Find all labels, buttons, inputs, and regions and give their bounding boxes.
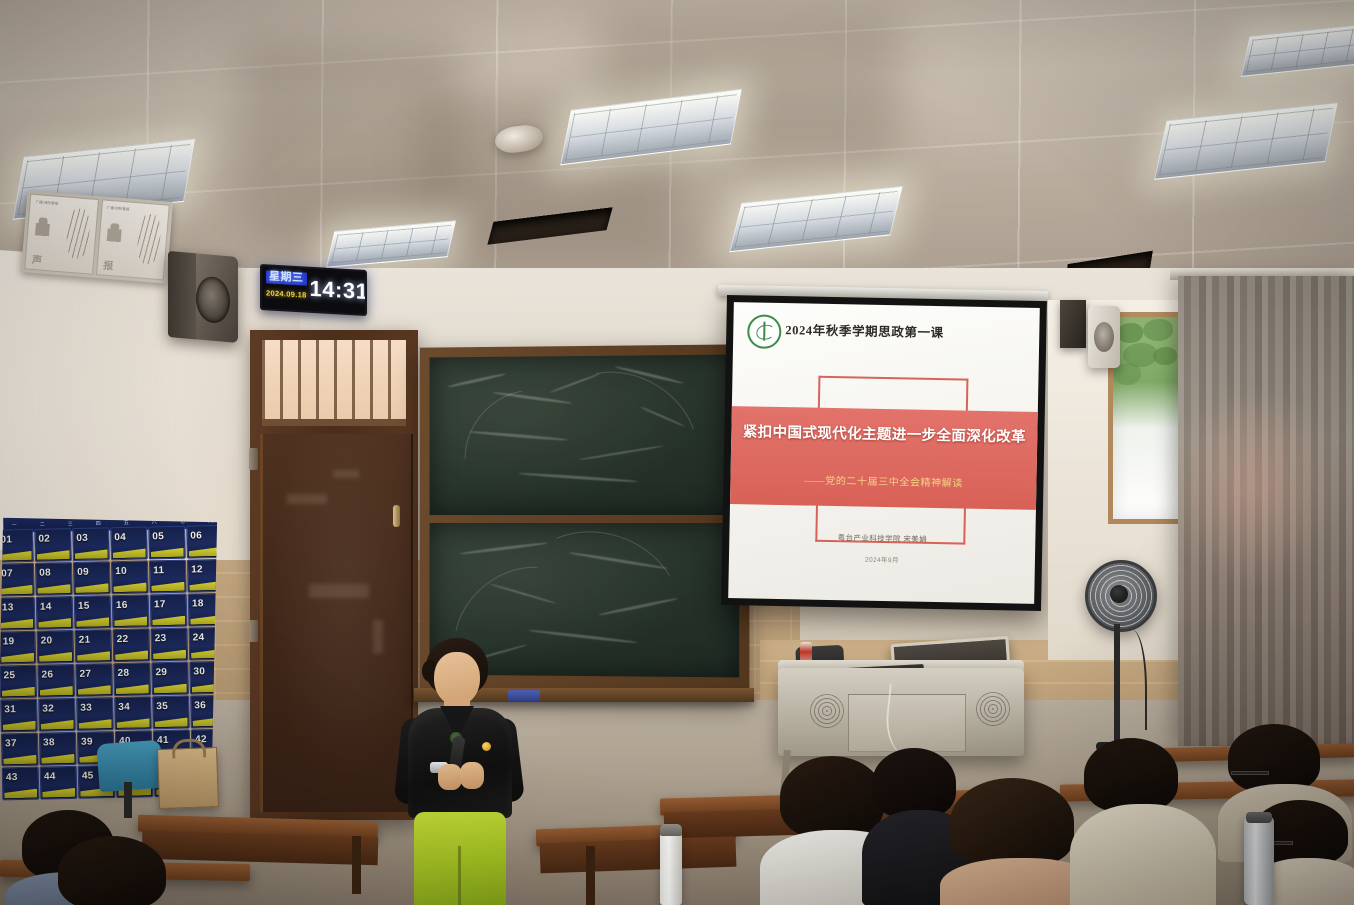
person-icon	[34, 217, 50, 244]
phone-pocket-number: 36	[194, 700, 206, 711]
window-bars-icon	[262, 340, 406, 426]
slide-author: 粤台产业科技学院 宋美娟	[729, 530, 1035, 547]
phone-pocket[interactable]: 35	[152, 696, 190, 730]
phone-pocket-number: 23	[155, 633, 167, 644]
fan-pole	[1114, 624, 1120, 744]
phone-pocket-number: 37	[5, 738, 17, 749]
lecturer-hand-right	[460, 762, 484, 789]
phone-pocket-number: 28	[117, 668, 129, 679]
phone-rack-column-label: 三	[68, 520, 79, 527]
phone-rack-column-label: 二	[40, 521, 51, 528]
phone-pocket[interactable]: 19	[0, 631, 36, 665]
phone-rack-column-label: 一	[12, 521, 23, 528]
flask-cap	[1246, 812, 1272, 823]
phone-pocket[interactable]: 28	[113, 662, 151, 696]
phone-pocket-number: 03	[76, 533, 88, 544]
speaker-cone-icon	[1094, 322, 1114, 352]
phone-pocket-number: 19	[3, 636, 15, 647]
phone-pocket-number: 35	[156, 701, 168, 712]
podium-vent-icon	[810, 694, 844, 728]
phone-pocket-number: 31	[4, 704, 16, 715]
alarm-box-label: 广播/消防警报	[107, 205, 130, 212]
student	[48, 836, 178, 905]
phone-pocket-number: 09	[77, 567, 89, 578]
phone-pocket[interactable]: 01	[0, 529, 34, 563]
projection-screen: 2024年秋季学期思政第一课 紧扣中国式现代化主题进一步全面深化改革 ——党的二…	[721, 295, 1047, 611]
clock-date: 2024.09.18	[266, 288, 307, 299]
student-shirt	[1070, 804, 1216, 905]
phone-pocket-number: 43	[6, 772, 18, 783]
phone-pocket[interactable]: 27	[75, 663, 113, 697]
phone-rack-row: 131415161718	[0, 593, 217, 631]
phone-pocket[interactable]: 38	[39, 732, 77, 766]
crate-handle-icon	[172, 738, 207, 758]
led-wall-clock: 星期三 2024.09.18 14:31	[260, 264, 367, 316]
bottle-cap	[660, 824, 682, 836]
phone-pocket-number: 10	[115, 566, 127, 577]
classroom-photo: 广播/消防警报 声 广播/消防警报 报 星期三 2024.09.18 14:31	[0, 0, 1354, 905]
phone-pocket[interactable]: 31	[0, 699, 38, 733]
desk-leg	[352, 836, 361, 894]
phone-pocket-number: 11	[153, 565, 164, 576]
phone-pocket-number: 32	[42, 703, 54, 714]
phone-pocket[interactable]: 24	[189, 627, 218, 661]
student-hair	[1228, 724, 1320, 792]
phone-pocket[interactable]: 08	[35, 562, 73, 596]
lecturer-trousers	[414, 812, 506, 905]
phone-pocket[interactable]: 30	[189, 661, 217, 695]
phone-pocket[interactable]: 33	[76, 697, 114, 731]
speaker-cone-icon	[196, 275, 230, 324]
phone-pocket-number: 18	[192, 598, 204, 609]
phone-pocket-number: 01	[0, 534, 12, 545]
water-bottle[interactable]	[660, 824, 682, 905]
phone-pocket-number: 02	[38, 534, 50, 545]
phone-pocket[interactable]: 10	[111, 560, 149, 594]
student	[1070, 738, 1210, 905]
phone-pocket[interactable]: 11	[149, 560, 187, 594]
phone-pocket[interactable]: 07	[0, 563, 35, 597]
phone-pocket[interactable]: 02	[34, 528, 72, 562]
phone-pocket[interactable]: 29	[151, 662, 189, 696]
phone-pocket[interactable]: 03	[72, 527, 110, 561]
phone-pocket-number: 14	[40, 601, 52, 612]
phone-pocket-number: 07	[1, 568, 13, 579]
fan-hub-icon	[1110, 585, 1128, 603]
phone-pocket-number: 27	[79, 669, 91, 680]
phone-pocket-number: 34	[118, 702, 130, 713]
alarm-box: 广播/消防警报 声	[24, 194, 98, 275]
phone-rack-row: 252627282930	[0, 661, 217, 699]
phone-pocket-number: 13	[2, 602, 14, 613]
lapel-pin-icon	[482, 742, 491, 751]
door-hinge	[249, 620, 258, 642]
presentation-slide: 2024年秋季学期思政第一课 紧扣中国式现代化主题进一步全面深化改革 ——党的二…	[728, 302, 1040, 604]
alarm-box-glyph: 声	[31, 251, 42, 267]
phone-pocket-number: 17	[154, 599, 166, 610]
slide-date: 2024年9月	[729, 551, 1035, 567]
wall-speaker-left	[168, 251, 238, 343]
phone-pocket-number: 12	[191, 564, 203, 575]
phone-pocket-number: 21	[79, 635, 91, 646]
phone-pocket[interactable]: 13	[0, 597, 35, 631]
phone-pocket-number: 16	[116, 600, 128, 611]
speaker-body	[168, 251, 196, 339]
phone-pocket-number: 20	[41, 635, 53, 646]
phone-pocket-number: 30	[193, 666, 205, 677]
phone-pocket-number: 45	[82, 770, 94, 781]
phone-pocket[interactable]: 05	[148, 526, 186, 560]
phone-pocket[interactable]: 20	[37, 630, 75, 664]
phone-pocket-number: 04	[114, 532, 126, 543]
phone-pocket-number: 26	[41, 669, 53, 680]
phone-pocket-number: 38	[43, 737, 55, 748]
wooden-crate[interactable]	[157, 747, 219, 809]
lecturer-hand-left	[438, 764, 462, 790]
phone-pocket-number: 29	[155, 667, 167, 678]
phone-pocket-number: 08	[39, 567, 51, 578]
phone-pocket[interactable]: 15	[74, 595, 112, 629]
phone-pocket[interactable]: 17	[150, 594, 188, 628]
phone-pocket-number: 24	[193, 632, 205, 643]
phone-pocket-number: 39	[81, 737, 93, 748]
curtain-light-glow	[1186, 400, 1336, 590]
clock-weekday: 星期三	[266, 270, 307, 285]
phone-pocket[interactable]: 43	[2, 767, 40, 801]
wall-alarm-speaker-boxes: 广播/消防警报 声 广播/消防警报 报	[21, 190, 173, 283]
phone-pocket[interactable]: 04	[110, 527, 148, 561]
phone-pocket[interactable]: 23	[151, 628, 189, 662]
slide-kicker: 2024年秋季学期思政第一课	[785, 319, 944, 341]
phone-pocket-number: 15	[78, 601, 90, 612]
phone-pocket-number: 44	[44, 771, 56, 782]
eyeglasses	[1232, 772, 1268, 774]
phone-pocket[interactable]: 34	[114, 696, 152, 730]
alarm-box: 广播/消防警报 报	[95, 199, 169, 280]
student-hair	[950, 778, 1074, 866]
phone-pocket-number: 06	[190, 530, 202, 541]
alarm-box-glyph: 报	[103, 257, 114, 273]
phone-pocket[interactable]: 06	[186, 525, 217, 559]
door-transom-window	[262, 340, 406, 426]
blackboard-panel-upper	[430, 354, 740, 515]
clock-time: 14:31	[310, 269, 367, 314]
clock-left-panel: 星期三 2024.09.18	[262, 266, 310, 311]
student-hair	[1084, 738, 1178, 812]
phone-pocket[interactable]: 26	[37, 664, 75, 698]
phone-pocket[interactable]: 18	[188, 593, 217, 627]
phone-pocket-number: 33	[80, 703, 92, 714]
podium-vent-icon	[976, 692, 1010, 726]
phone-pocket[interactable]: 12	[187, 559, 217, 593]
phone-pocket-number: 25	[3, 670, 15, 681]
phone-pocket-number: 22	[117, 634, 129, 645]
phone-pocket-number: 05	[152, 531, 164, 542]
wall-speaker-right	[1088, 306, 1120, 368]
phone-rack-column-label: 四	[96, 520, 107, 527]
phone-pocket[interactable]: 14	[36, 596, 74, 630]
desk-leg	[586, 846, 595, 905]
lecturer	[386, 638, 532, 905]
wall-speaker-dark-right	[1060, 300, 1086, 348]
phone-pocket[interactable]: 37	[1, 733, 39, 767]
phone-rack-column-label: 五	[124, 519, 135, 526]
phone-rack-row: 010203040506	[0, 525, 217, 563]
phone-pocket[interactable]: 09	[73, 561, 111, 595]
student-hair	[58, 836, 166, 905]
sound-wave-icon	[65, 208, 91, 260]
phone-pocket[interactable]: 25	[0, 665, 37, 699]
school-emblem-icon	[747, 314, 782, 349]
door-hinge	[249, 448, 258, 470]
phone-pocket[interactable]: 32	[38, 698, 76, 732]
phone-pocket[interactable]: 44	[40, 766, 78, 800]
alarm-box-label: 广播/消防警报	[35, 199, 58, 206]
door-handle[interactable]	[393, 505, 400, 527]
person-icon	[106, 223, 122, 250]
phone-pocket[interactable]: 21	[75, 629, 113, 663]
phone-pocket[interactable]: 16	[112, 594, 150, 628]
thermos-flask[interactable]	[1244, 816, 1274, 905]
transom-sill	[262, 419, 406, 426]
phone-rack-row: 192021222324	[0, 627, 217, 665]
phone-pocket[interactable]: 22	[113, 628, 151, 662]
sound-wave-icon	[136, 213, 162, 265]
phone-rack-row: 070809101112	[0, 559, 217, 597]
phone-rack-row: 313233343536	[0, 695, 217, 733]
